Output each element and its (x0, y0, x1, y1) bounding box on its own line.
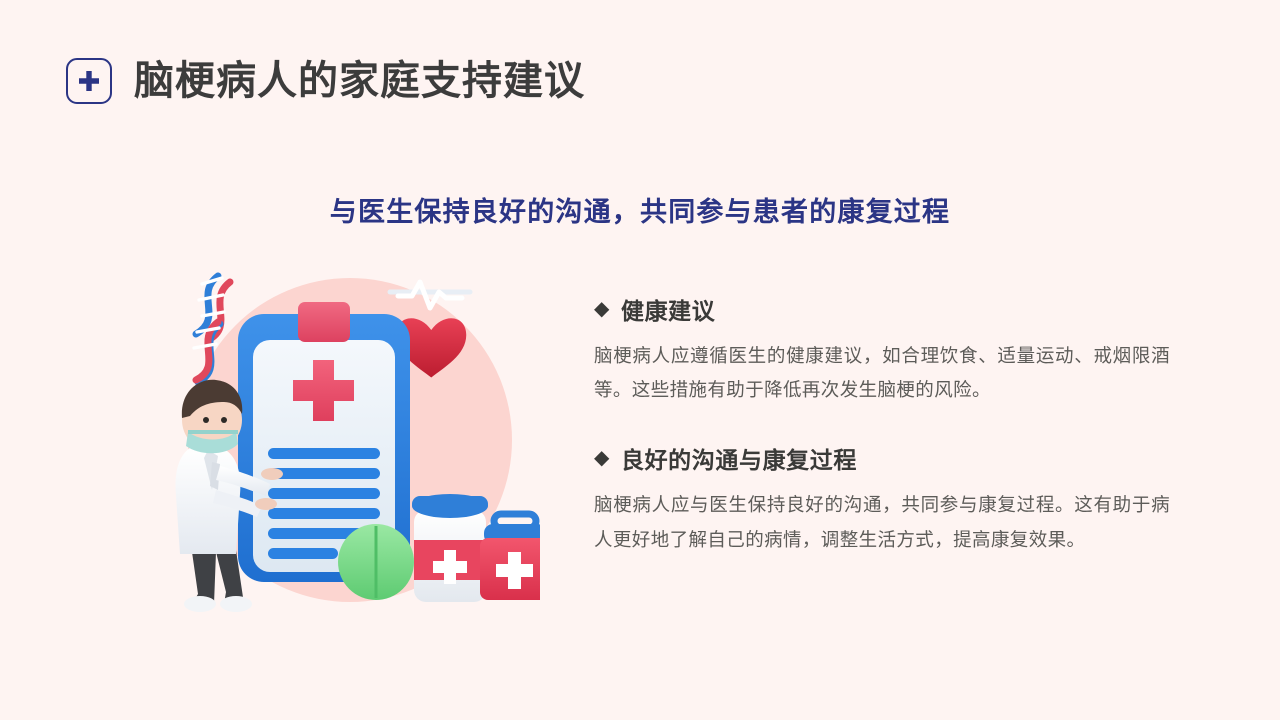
diamond-bullet-icon: ◆ (594, 448, 610, 468)
section-communication-recovery: ◆ 良好的沟通与康复过程 脑梗病人应与医生保持良好的沟通，共同参与康复过程。这有… (594, 441, 1170, 556)
slide-subtitle: 与医生保持良好的沟通，共同参与患者的康复过程 (0, 190, 1280, 229)
section-body-text: 脑梗病人应遵循医生的健康建议，如合理饮食、适量运动、戒烟限酒等。这些措施有助于降… (594, 339, 1170, 407)
page-title: 脑梗病人的家庭支持建议 (134, 61, 585, 101)
section-heading-text: 良好的沟通与康复过程 (621, 441, 857, 475)
first-aid-kit-icon (480, 514, 540, 600)
content-column: ◆ 健康建议 脑梗病人应遵循医生的健康建议，如合理饮食、适量运动、戒烟限酒等。这… (594, 292, 1170, 557)
section-heading: ◆ 良好的沟通与康复过程 (594, 441, 1170, 475)
green-pill-icon (338, 524, 414, 600)
slide-canvas: 脑梗病人的家庭支持建议 与医生保持良好的沟通，共同参与患者的康复过程 (0, 0, 1280, 720)
diamond-bullet-icon: ◆ (594, 299, 610, 319)
medical-cross-icon (66, 58, 112, 104)
section-heading-text: 健康建议 (621, 292, 715, 326)
section-body-text: 脑梗病人应与医生保持良好的沟通，共同参与康复过程。这有助于病人更好地了解自己的病… (594, 488, 1170, 556)
section-heading: ◆ 健康建议 (594, 292, 1170, 326)
medical-illustration (150, 252, 540, 614)
medicine-jar-icon (412, 494, 488, 602)
section-health-advice: ◆ 健康建议 脑梗病人应遵循医生的健康建议，如合理饮食、适量运动、戒烟限酒等。这… (594, 292, 1170, 407)
slide-header: 脑梗病人的家庭支持建议 (66, 58, 585, 104)
